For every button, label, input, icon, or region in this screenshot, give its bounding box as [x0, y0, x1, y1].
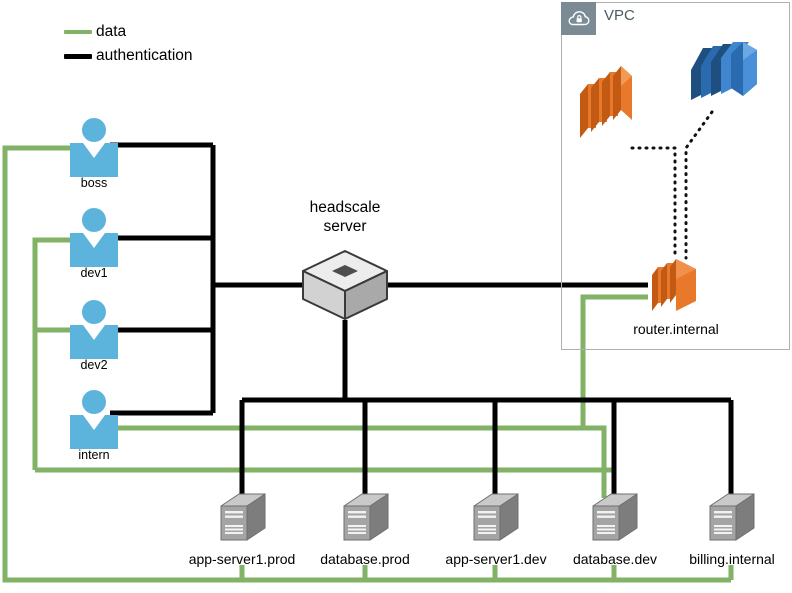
headscale-label-line2: server: [283, 218, 407, 236]
user-label-dev2: dev2: [58, 358, 130, 372]
legend-label-data: data: [96, 24, 126, 40]
user-icon-boss[interactable]: [70, 118, 118, 170]
legend-swatch-authentication: [64, 54, 92, 59]
user-head-icon: [82, 390, 106, 414]
user-collar-icon: [83, 325, 105, 340]
headscale-label-line1: headscale: [283, 199, 407, 217]
vpc-label: VPC: [604, 7, 635, 24]
user-label-intern: intern: [58, 448, 130, 462]
user-collar-icon: [83, 415, 105, 430]
server-icon-billing-internal[interactable]: [706, 492, 758, 544]
router-internal-label: router.internal: [610, 321, 742, 337]
server-label-database-dev: database.dev: [557, 551, 673, 567]
aws-instances-blue-icon: [685, 40, 769, 120]
server-icon-app-server1-dev[interactable]: [470, 492, 522, 544]
user-label-boss: boss: [58, 176, 130, 190]
server-label-database-prod: database.prod: [305, 551, 425, 567]
user-label-dev1: dev1: [58, 266, 130, 280]
user-head-icon: [82, 300, 106, 324]
legend-label-authentication: authentication: [96, 48, 193, 64]
headscale-cube-icon[interactable]: [301, 249, 389, 321]
user-collar-icon: [83, 233, 105, 248]
server-icon-database-prod[interactable]: [340, 492, 392, 544]
server-label-app-server1-dev: app-server1.dev: [433, 551, 559, 567]
legend-item-authentication: authentication: [64, 44, 193, 68]
legend-swatch-data: [64, 30, 92, 34]
user-head-icon: [82, 118, 106, 142]
aws-instances-orange-icon: [574, 62, 638, 148]
user-collar-icon: [83, 143, 105, 158]
router-internal-icon: [648, 253, 704, 319]
server-label-app-server1-prod: app-server1.prod: [176, 551, 308, 567]
user-icon-dev2[interactable]: [70, 300, 118, 352]
server-label-billing-internal: billing.internal: [673, 551, 791, 567]
vpc-cloud-lock-icon: [561, 2, 596, 35]
legend-item-data: data: [64, 20, 193, 44]
user-icon-dev1[interactable]: [70, 208, 118, 260]
server-icon-app-server1-prod[interactable]: [217, 492, 269, 544]
legend: data authentication: [64, 20, 193, 68]
diagram-canvas: data authentication VPC: [0, 0, 792, 593]
server-icon-database-dev[interactable]: [589, 492, 641, 544]
data-path-intern: [118, 428, 604, 498]
user-head-icon: [82, 208, 106, 232]
user-icon-intern[interactable]: [70, 390, 118, 442]
